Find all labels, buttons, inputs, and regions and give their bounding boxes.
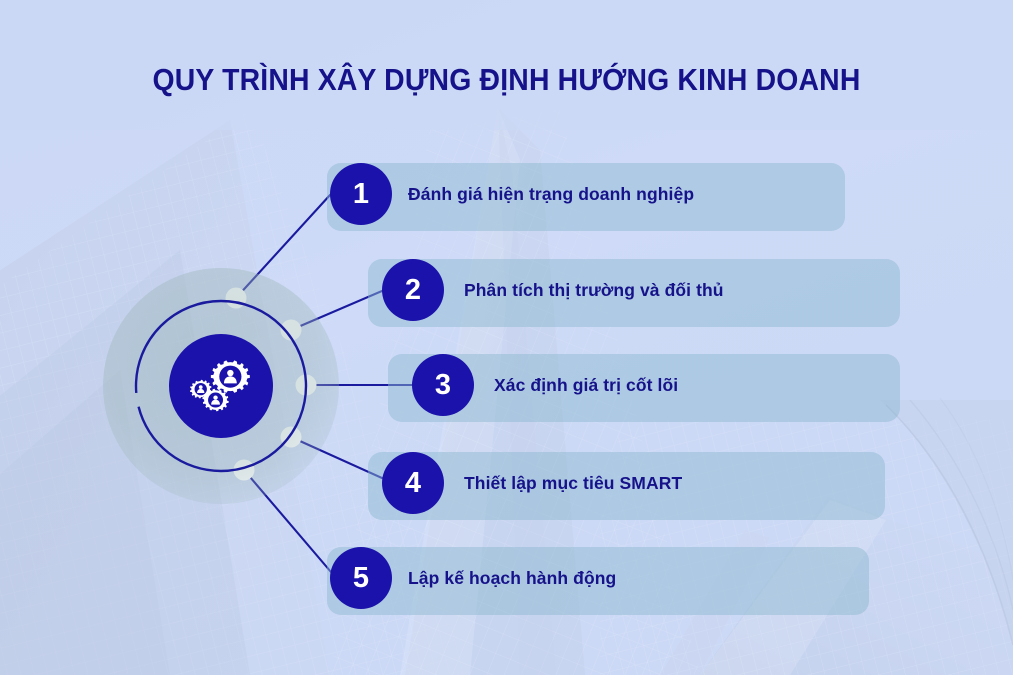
step-number-badge-5: 5 (330, 547, 392, 609)
step-number-badge-1: 1 (330, 163, 392, 225)
hub-disc (169, 334, 273, 438)
step-number-badge-3: 3 (412, 354, 474, 416)
step-label-3: Xác định giá trị cốt lõi (494, 375, 678, 396)
step-row-4[interactable]: 4 Thiết lập mục tiêu SMART (382, 452, 682, 514)
step-row-1[interactable]: 1 Đánh giá hiện trạng doanh nghiệp (330, 163, 694, 225)
step-number-badge-4: 4 (382, 452, 444, 514)
step-number-badge-2: 2 (382, 259, 444, 321)
step-label-4: Thiết lập mục tiêu SMART (464, 473, 682, 494)
step-label-1: Đánh giá hiện trạng doanh nghiệp (408, 184, 694, 205)
page-title: QUY TRÌNH XÂY DỰNG ĐỊNH HƯỚNG KINH DOANH (35, 63, 977, 98)
step-row-5[interactable]: 5 Lập kế hoạch hành động (330, 547, 616, 609)
step-label-2: Phân tích thị trường và đối thủ (464, 280, 724, 301)
infographic-canvas: QUY TRÌNH XÂY DỰNG ĐỊNH HƯỚNG KINH DOANH (0, 0, 1013, 675)
step-label-5: Lập kế hoạch hành động (408, 568, 616, 589)
step-row-3[interactable]: 3 Xác định giá trị cốt lõi (412, 354, 678, 416)
gears-people-icon (182, 347, 260, 425)
step-row-2[interactable]: 2 Phân tích thị trường và đối thủ (382, 259, 724, 321)
